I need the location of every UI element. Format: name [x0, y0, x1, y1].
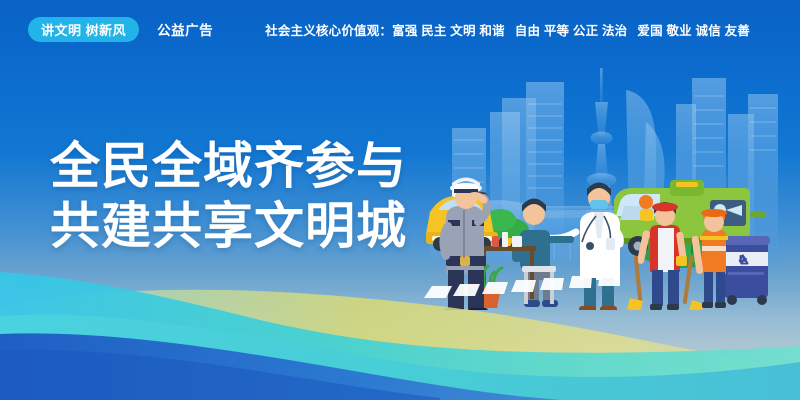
poster-headline: 全民全域齐参与 共建共享文明城 [50, 136, 407, 256]
wave-decoration [0, 250, 800, 400]
core-values-group-1: 富强 民主 文明 和谐 [392, 24, 505, 38]
headline-line-2: 共建共享文明城 [50, 196, 407, 256]
core-values-group-3: 爱国 敬业 诚信 友善 [637, 24, 750, 38]
top-bar: 讲文明 树新风 公益广告 社会主义核心价值观：富强 民主 文明 和谐自由 平等 … [0, 0, 800, 58]
campaign-badge[interactable]: 讲文明 树新风 [28, 17, 139, 42]
core-values-text: 社会主义核心价值观：富强 民主 文明 和谐自由 平等 公正 法治爱国 敬业 诚信… [265, 20, 750, 39]
public-service-poster: 讲文明 树新风 公益广告 社会主义核心价值观：富强 民主 文明 和谐自由 平等 … [0, 0, 800, 400]
headline-line-1: 全民全域齐参与 [50, 136, 407, 196]
core-values-group-2: 自由 平等 公正 法治 [515, 24, 628, 38]
public-ad-label: 公益广告 [157, 19, 213, 39]
core-values-prefix: 社会主义核心价值观： [265, 24, 392, 38]
